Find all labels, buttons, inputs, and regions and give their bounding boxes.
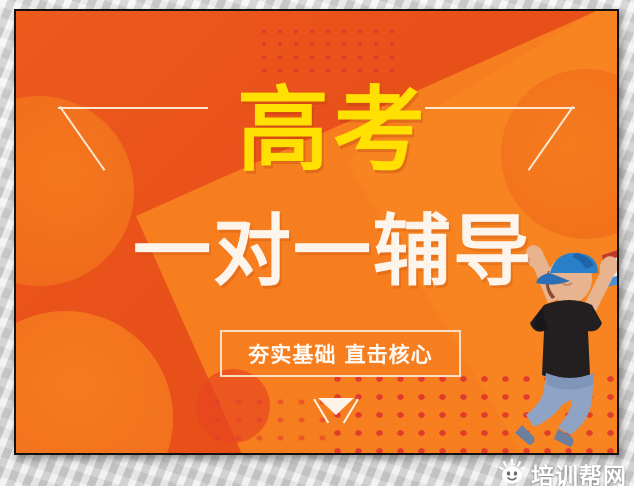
tagline-box: 夯实基础 直击核心: [220, 330, 461, 377]
banner-title-sub: 一对一辅导: [16, 211, 617, 293]
page-root: 高考 一对一辅导 夯实基础 直击核心: [0, 0, 634, 486]
banner-frame: 高考 一对一辅导 夯实基础 直击核心: [14, 9, 619, 455]
watermark-text: 培训帮网: [531, 457, 627, 486]
promo-banner[interactable]: 高考 一对一辅导 夯实基础 直击核心: [16, 11, 617, 453]
watermark: 培训帮网: [495, 455, 633, 486]
circle-decoration-left-bottom: [16, 311, 173, 453]
chevron-down-icon[interactable]: [312, 397, 360, 431]
tagline-text: 夯实基础 直击核心: [248, 339, 432, 369]
sun-face-logo-icon: [499, 459, 525, 486]
dot-grid-top: [252, 22, 396, 78]
banner-title-main: 高考: [16, 85, 617, 177]
